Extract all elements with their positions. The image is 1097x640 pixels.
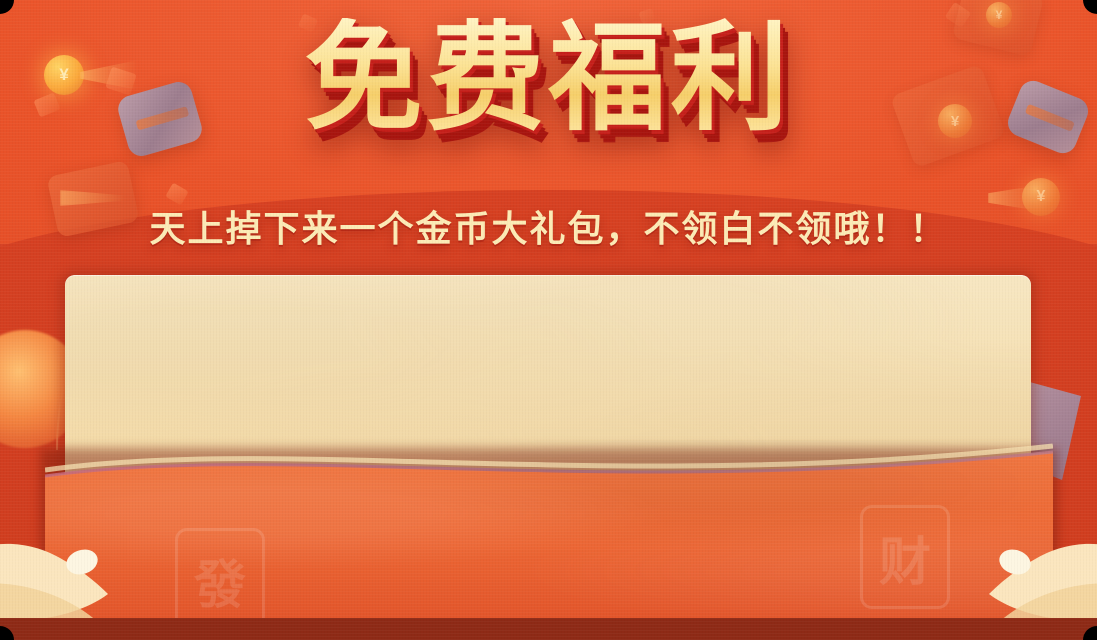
title-block: 免费福利	[0, 18, 1097, 142]
hand-right	[923, 502, 1097, 632]
bottom-bar	[0, 618, 1097, 640]
hand-left	[0, 502, 174, 632]
page-title: 免费福利	[304, 18, 792, 142]
page-subtitle: 天上掉下来一个金币大礼包，不领白不领哦！！	[0, 200, 1097, 252]
promo-banner: ¥ ¥ ¥ ¥ 免费福利 天上掉下来一个金币大礼包，不领白不领哦！！	[0, 0, 1097, 640]
seal-watermark-fa: 發	[175, 528, 265, 632]
